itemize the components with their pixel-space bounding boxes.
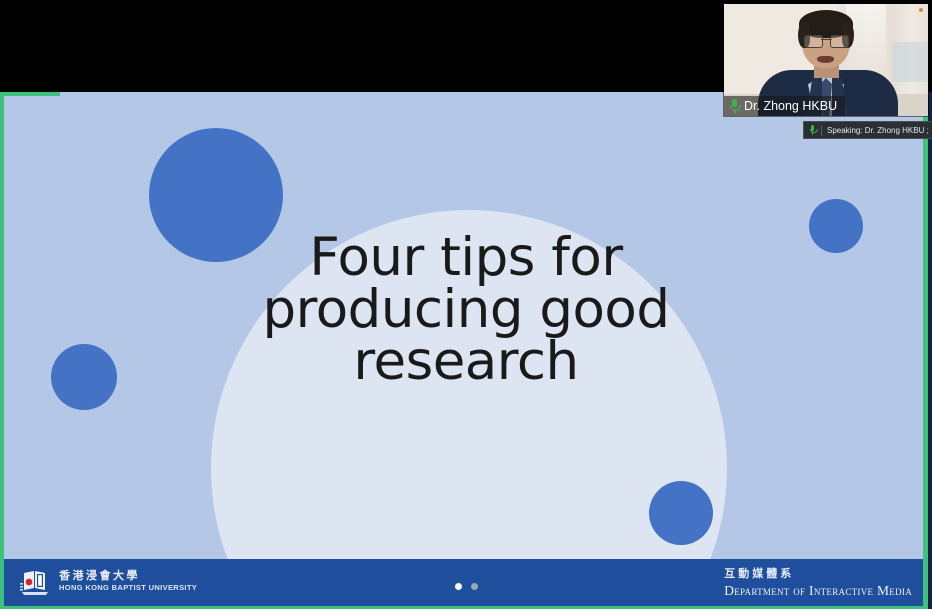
- active-speaker-border-left: [0, 92, 4, 609]
- microphone-icon-stem: [734, 110, 736, 113]
- video-background-window: [892, 42, 928, 82]
- department-name-chinese: 互動媒體系: [724, 565, 912, 581]
- active-speaker-border-top: [0, 92, 60, 96]
- hkbu-book-logo-icon: [18, 564, 52, 598]
- participant-video-thumbnail[interactable]: Dr. Zhong HKBU: [724, 4, 928, 116]
- speaking-indicator-toast: Speaking: Dr. Zhong HKBU ;: [803, 121, 932, 139]
- stage-right-edge: [928, 92, 932, 609]
- presentation-slide: Four tips for producing good research: [4, 92, 928, 606]
- recording-indicator-dot: [919, 8, 923, 12]
- speaking-indicator-text: Speaking: Dr. Zhong HKBU ;: [827, 126, 929, 135]
- department-name-english: Department of Interactive Media: [724, 583, 912, 599]
- microphone-icon-stem: [812, 132, 813, 134]
- department-brand: 互動媒體系 Department of Interactive Media: [724, 565, 912, 599]
- page-dot-2[interactable]: [471, 583, 478, 590]
- slide-title: Four tips for producing good research: [4, 232, 928, 388]
- decorative-circle-bottom-right: [649, 481, 713, 545]
- shared-screen-stage[interactable]: Four tips for producing good research: [0, 92, 932, 609]
- slide-footer: 香港浸會大學 HONG KONG BAPTIST UNIVERSITY 互動媒體…: [4, 559, 928, 606]
- glasses-icon: [804, 35, 849, 46]
- hkbu-brand: 香港浸會大學 HONG KONG BAPTIST UNIVERSITY: [18, 564, 197, 598]
- participant-mouth: [817, 56, 834, 63]
- glasses-lens-left: [804, 35, 823, 48]
- participant-name-text: Dr. Zhong HKBU: [744, 99, 837, 113]
- toast-divider: [821, 125, 822, 136]
- microphone-icon: [809, 125, 816, 135]
- zoom-meeting-window: Four tips for producing good research: [0, 0, 932, 609]
- glasses-lens-right: [830, 35, 849, 48]
- participant-name-label: Dr. Zhong HKBU: [724, 96, 845, 116]
- microphone-icon-arc: [810, 129, 818, 133]
- hkbu-name-chinese: 香港浸會大學: [59, 570, 197, 581]
- page-dot-1[interactable]: [455, 583, 462, 590]
- microphone-icon[interactable]: [729, 99, 740, 113]
